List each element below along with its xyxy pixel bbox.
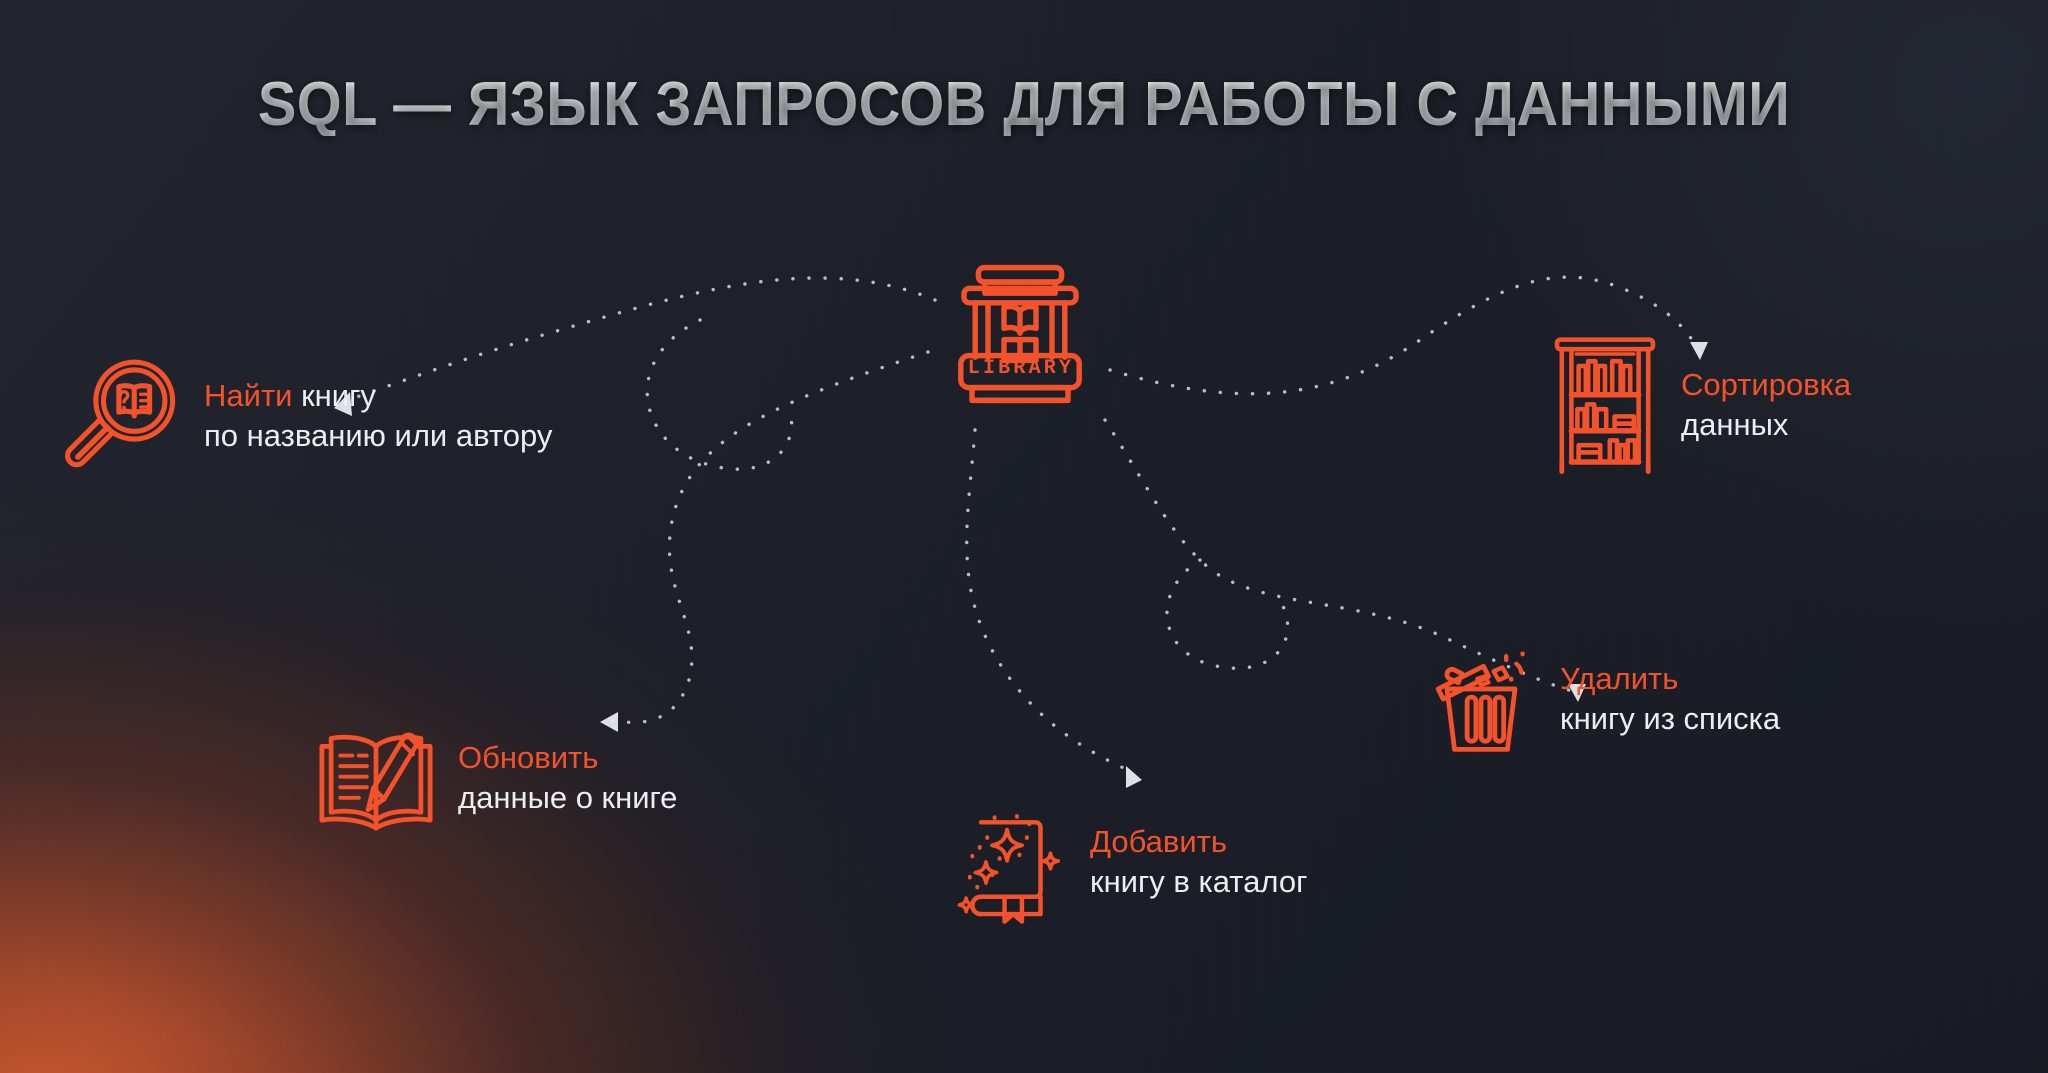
node-delete[interactable]: Удалить книгу из списка [1418, 636, 1780, 762]
find-tail-text: книгу [292, 378, 375, 413]
node-add[interactable]: Добавить книгу в каталог [950, 800, 1307, 924]
path-to-add [967, 430, 1132, 772]
infographic-canvas: LIBRARY Найти книгу по на [0, 0, 2048, 1073]
path-decor-left-loop [647, 320, 791, 469]
bookshelf-icon [1545, 330, 1665, 480]
path-decor-right-loop [1167, 560, 1288, 668]
update-lead-text: Обновить [458, 740, 598, 775]
library-building-icon [940, 250, 1100, 410]
node-find[interactable]: Найти книгу по названию или автору [60, 352, 552, 480]
delete-caption: Удалить книгу из списка [1560, 659, 1780, 738]
delete-line2-text: книгу из списка [1560, 699, 1780, 739]
add-lead-text: Добавить [1090, 824, 1227, 859]
library-sign-label: LIBRARY [962, 357, 1080, 380]
find-caption: Найти книгу по названию или автору [204, 376, 552, 455]
node-sort[interactable]: Сортировка данных [1545, 330, 1851, 480]
sort-lead-text: Сортировка [1681, 367, 1851, 402]
arrowhead-add [1126, 766, 1142, 788]
node-update[interactable]: Обновить данные о книге [310, 712, 677, 844]
find-lead-text: Найти [204, 378, 292, 413]
trash-bin-icon [1418, 636, 1544, 762]
magnifier-book-question-icon [60, 352, 188, 480]
path-to-update [612, 352, 928, 722]
center-node-library: LIBRARY [940, 250, 1100, 410]
page-title: SQL — ЯЗЫК ЗАПРОСОВ ДЛЯ РАБОТЫ С ДАННЫМИ [72, 74, 1977, 136]
update-line2-text: данные о книге [458, 778, 677, 818]
sort-caption: Сортировка данных [1681, 365, 1851, 444]
book-sparkle-bookmark-icon [950, 800, 1074, 924]
update-caption: Обновить данные о книге [458, 738, 677, 817]
sort-line2-text: данных [1681, 405, 1851, 445]
add-caption: Добавить книгу в каталог [1090, 822, 1307, 901]
open-book-pencil-icon [310, 712, 442, 844]
find-line2-text: по названию или автору [204, 416, 552, 456]
delete-lead-text: Удалить [1560, 661, 1678, 696]
add-line2-text: книгу в каталог [1090, 862, 1307, 902]
